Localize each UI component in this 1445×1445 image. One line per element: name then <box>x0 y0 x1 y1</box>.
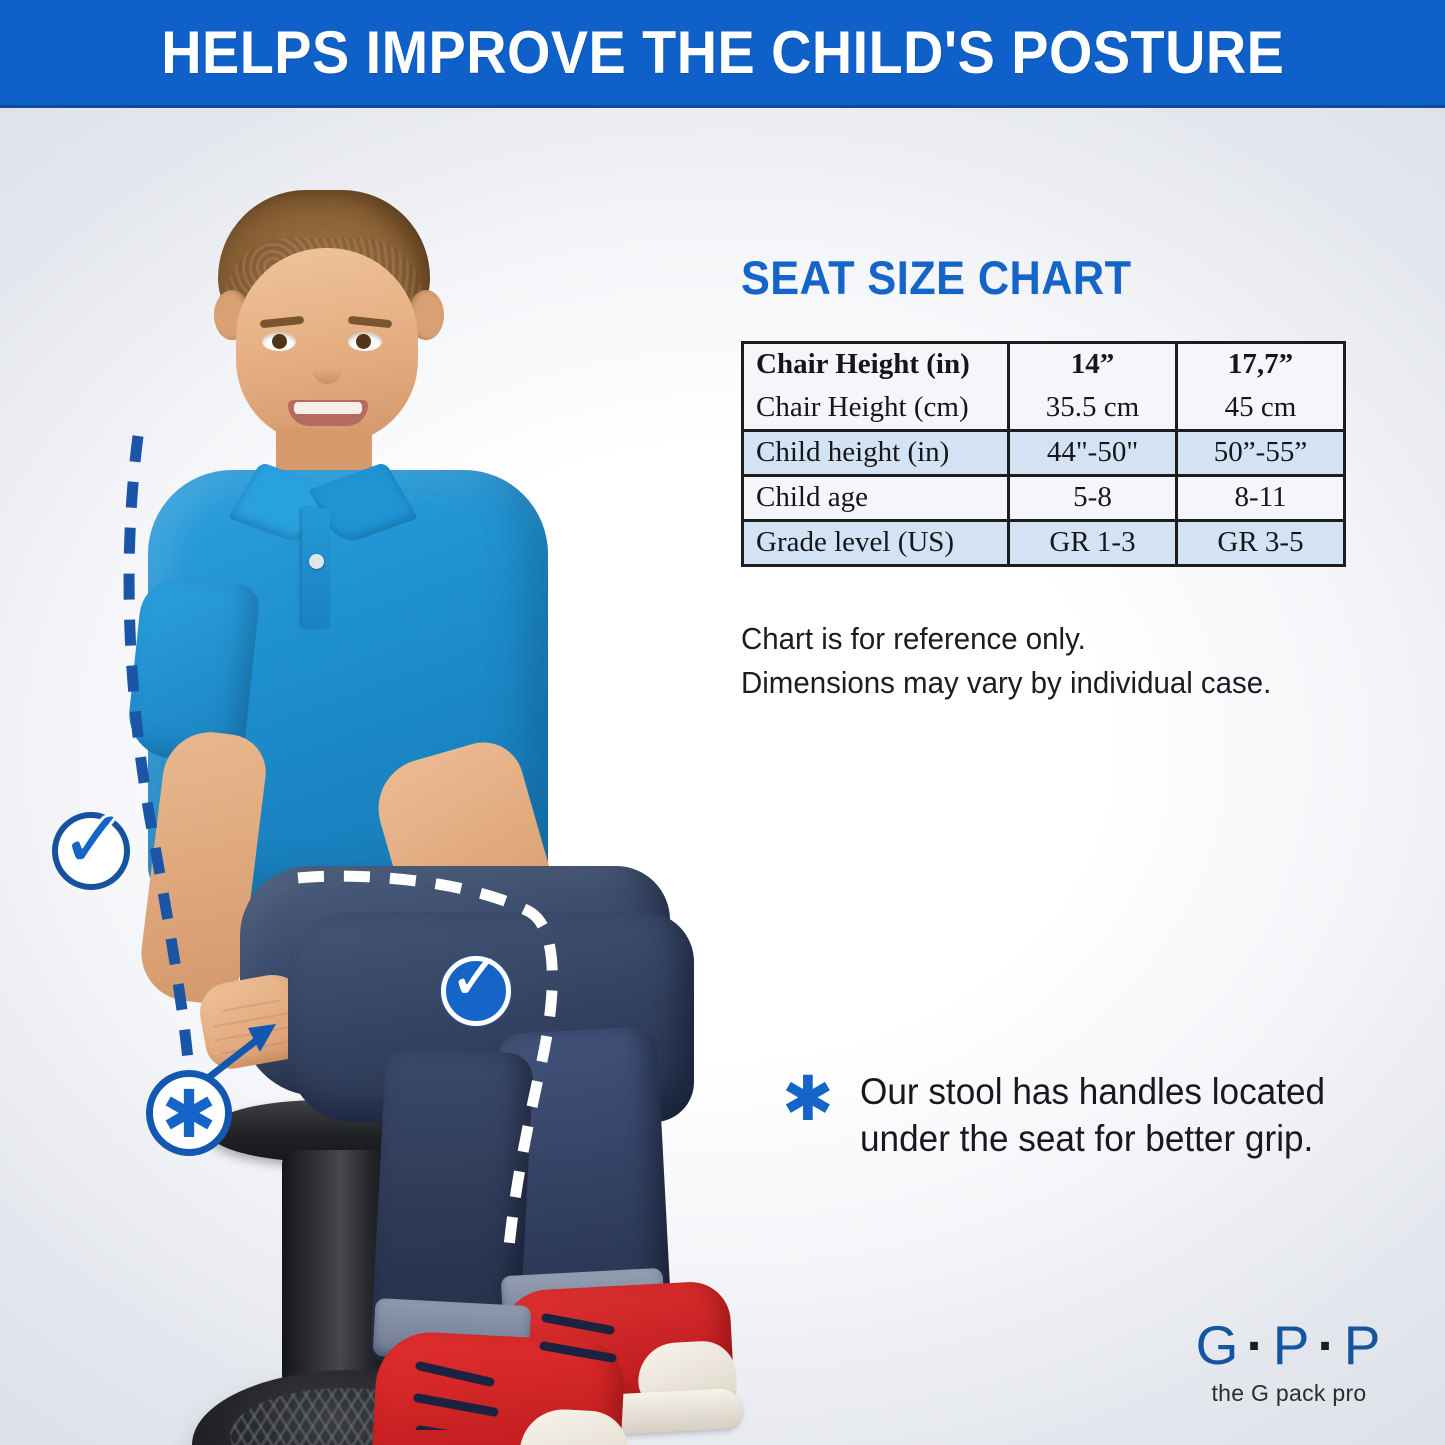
cell-label: Grade level (US) <box>743 520 1009 565</box>
logo-letter-p1: P <box>1273 1318 1312 1373</box>
shoe-laces-svg <box>90 150 750 1430</box>
logo-dot-2: · <box>1317 1318 1337 1373</box>
cell-label: Chair Height (cm) <box>743 387 1009 431</box>
cell-value-b: 45 cm <box>1177 387 1345 431</box>
table-row: Chair Height (in) 14” 17,7” <box>743 343 1345 387</box>
table-row: Chair Height (cm) 35.5 cm 45 cm <box>743 387 1345 431</box>
cell-value-b: 50”-55” <box>1177 431 1345 476</box>
page-title: HELPS IMPROVE THE CHILD'S POSTURE <box>161 18 1284 87</box>
header-banner: HELPS IMPROVE THE CHILD'S POSTURE <box>0 0 1445 108</box>
logo-letter-g: G <box>1196 1318 1241 1373</box>
cell-value-a: GR 1-3 <box>1009 520 1177 565</box>
logo-wordmark: G · P · P <box>1178 1318 1400 1373</box>
seat-size-chart-heading: SEAT SIZE CHART <box>741 250 1330 305</box>
asterisk-icon-handle: ✱ <box>161 1091 216 1139</box>
table-row: Grade level (US) GR 1-3 GR 3-5 <box>743 520 1345 565</box>
product-photo <box>90 150 750 1430</box>
cell-value-a: 44"-50" <box>1009 431 1177 476</box>
logo-tagline: the G pack pro <box>1178 1380 1400 1407</box>
cell-value-b: 8-11 <box>1177 475 1345 520</box>
infographic-canvas: HELPS IMPROVE THE CHILD'S POSTURE <box>0 0 1445 1445</box>
cell-label: Chair Height (in) <box>743 343 1009 387</box>
seat-size-table: Chair Height (in) 14” 17,7” Chair Height… <box>741 341 1346 567</box>
cell-value-b: GR 3-5 <box>1177 520 1345 565</box>
asterisk-circle-handle: ✱ <box>146 1070 232 1156</box>
handle-note-line2: under the seat for better grip. <box>860 1115 1325 1162</box>
handle-note-line1: Our stool has handles located <box>860 1068 1325 1115</box>
cell-value-a: 14” <box>1009 343 1177 387</box>
cell-label: Child height (in) <box>743 431 1009 476</box>
reference-note: Chart is for reference only. Dimensions … <box>741 618 1271 706</box>
reference-note-line2: Dimensions may vary by individual case. <box>741 662 1271 704</box>
cell-value-b: 17,7” <box>1177 343 1345 387</box>
handle-note-text: Our stool has handles located under the … <box>860 1068 1325 1163</box>
cell-value-a: 5-8 <box>1009 475 1177 520</box>
asterisk-icon: ✱ <box>782 1074 834 1125</box>
check-icon-posture: ✓ <box>60 800 127 880</box>
table-row: Child age 5-8 8-11 <box>743 475 1345 520</box>
table-row: Child height (in) 44"-50" 50”-55” <box>743 431 1345 476</box>
seat-size-panel: SEAT SIZE CHART <box>741 250 1381 337</box>
handle-note: ✱ Our stool has handles located under th… <box>782 1068 1349 1163</box>
brand-logo: G · P · P the G pack pro <box>1178 1318 1400 1407</box>
logo-letter-p2: P <box>1344 1318 1383 1373</box>
check-icon-knee: ✓ <box>449 946 503 1010</box>
reference-note-line1: Chart is for reference only. <box>741 618 1271 660</box>
cell-value-a: 35.5 cm <box>1009 387 1177 431</box>
logo-dot-1: · <box>1246 1318 1266 1373</box>
cell-label: Child age <box>743 475 1009 520</box>
